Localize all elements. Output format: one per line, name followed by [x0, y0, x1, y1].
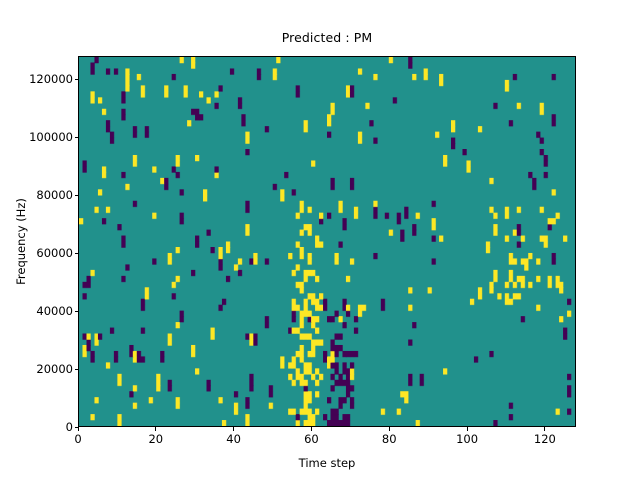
- y-axis-label: Frequency (Hz): [14, 56, 28, 427]
- x-tick-label: 0: [74, 432, 81, 446]
- x-tick-label: 60: [304, 432, 319, 446]
- y-tick-label: 80000: [36, 188, 73, 202]
- x-tick-label: 100: [456, 432, 478, 446]
- chart-title: Predicted : PM: [78, 30, 576, 45]
- figure-canvas: Predicted : PM Frequency (Hz) 0200004000…: [0, 0, 640, 480]
- x-tick-label: 120: [534, 432, 556, 446]
- x-tick-mark: [467, 427, 468, 431]
- x-tick-label: 80: [382, 432, 397, 446]
- x-tick-label: 40: [226, 432, 241, 446]
- x-axis-label: Time step: [78, 456, 576, 470]
- x-tick-mark: [155, 427, 156, 431]
- x-tick-mark: [311, 427, 312, 431]
- plot-area[interactable]: [78, 56, 576, 427]
- y-tick-label: 0: [66, 420, 73, 434]
- y-tick-label: 100000: [29, 130, 73, 144]
- x-tick-mark: [544, 427, 545, 431]
- y-tick-label: 120000: [29, 72, 73, 86]
- x-tick-mark: [78, 427, 79, 431]
- x-tick-mark: [233, 427, 234, 431]
- x-tick-label: 20: [148, 432, 163, 446]
- y-tick-label: 20000: [36, 362, 73, 376]
- x-tick-mark: [389, 427, 390, 431]
- heatmap-image[interactable]: [79, 57, 575, 426]
- y-tick-label: 40000: [36, 304, 73, 318]
- y-tick-label: 60000: [36, 246, 73, 260]
